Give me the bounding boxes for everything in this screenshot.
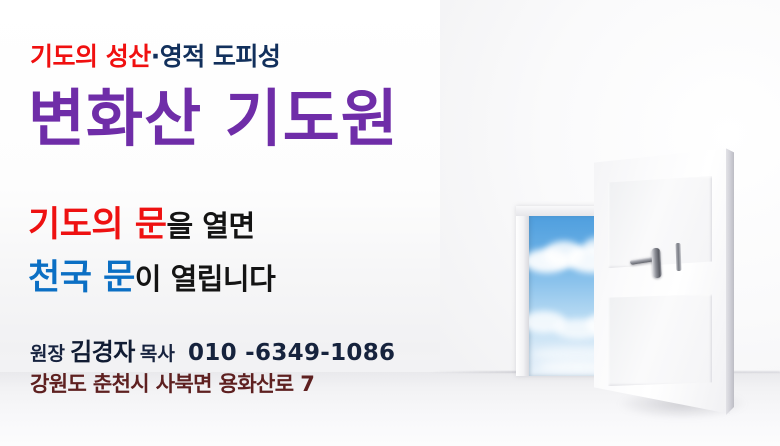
text-layer: 기도의 성산·영적 도피성 변화산 기도원 기도의 문을 열면 천국 문이 열립… — [0, 0, 780, 446]
tagline-navy: ·영적 도피성 — [151, 42, 281, 71]
slogan1-rest: 을 열면 — [167, 209, 255, 243]
contact-phone[interactable]: 010 -6349-1086 — [188, 340, 395, 366]
tagline: 기도의 성산·영적 도피성 — [30, 44, 280, 69]
prayer-house-banner: 기도의 성산·영적 도피성 변화산 기도원 기도의 문을 열면 천국 문이 열립… — [0, 0, 780, 446]
contact-line: 원장 김경자 목사 010 -6349-1086 — [30, 340, 395, 365]
contact-role-prefix: 원장 — [30, 343, 65, 365]
page-title: 변화산 기도원 — [28, 86, 399, 151]
slogan1-highlight: 기도의 문 — [28, 205, 167, 245]
contact-name: 김경자 — [70, 338, 135, 366]
tagline-red: 기도의 성산 — [30, 42, 151, 71]
slogan-line-1: 기도의 문을 열면 — [28, 208, 255, 243]
slogan-line-2: 천국 문이 열립니다 — [28, 261, 275, 296]
slogan2-highlight: 천국 문 — [28, 258, 135, 298]
slogan2-rest: 이 열립니다 — [135, 262, 276, 296]
contact-address: 강원도 춘천시 사북면 용화산로 7 — [30, 374, 314, 395]
contact-role-suffix: 목사 — [140, 343, 175, 365]
